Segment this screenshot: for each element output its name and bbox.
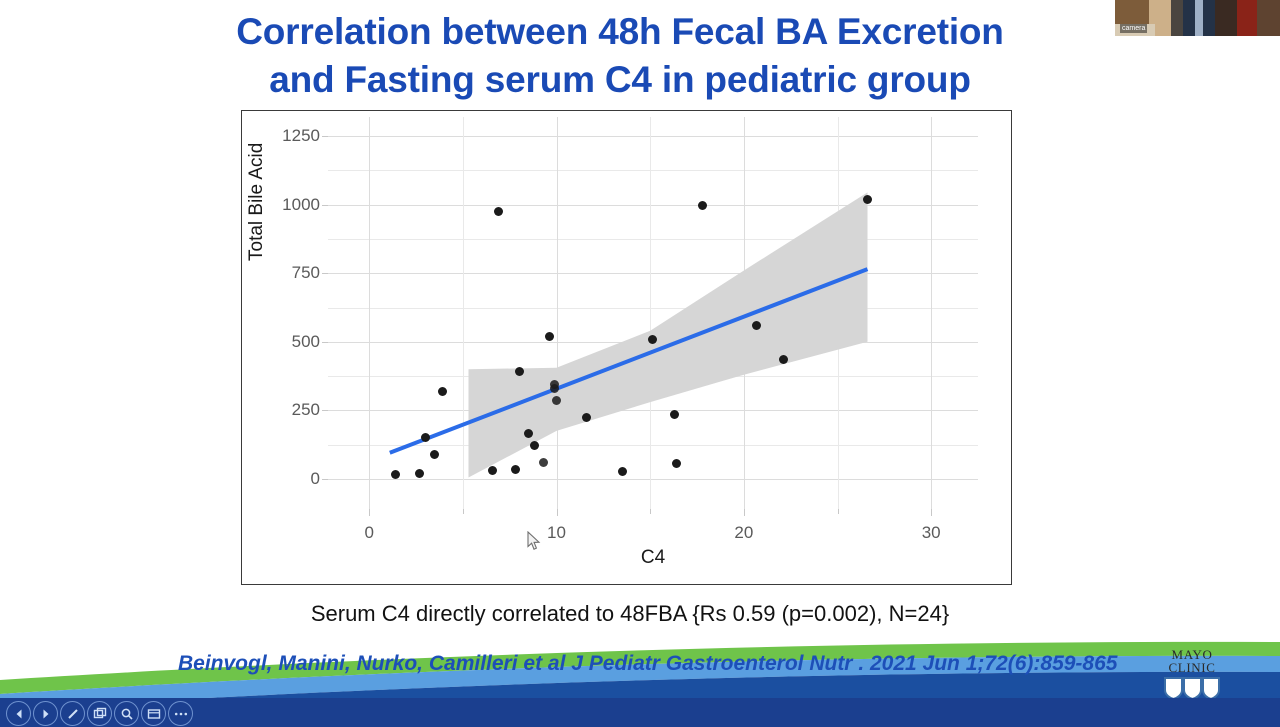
y-axis-tick-label: 0: [311, 469, 320, 489]
x-axis-tick-label: 10: [547, 523, 566, 543]
x-axis-tick-mark: [931, 509, 932, 516]
scatter-point: [545, 332, 554, 341]
scatter-point: [550, 380, 559, 389]
scatter-point: [582, 413, 591, 422]
scatter-point: [670, 410, 679, 419]
pen-tool-button[interactable]: [60, 701, 85, 726]
x-axis-tick-label: 20: [734, 523, 753, 543]
x-axis-tick-mark: [838, 509, 839, 514]
x-axis-ticks: 0102030: [328, 509, 978, 549]
presentation-slide: Correlation between 48h Fecal BA Excreti…: [0, 0, 1280, 727]
presentation-toolbar: [0, 698, 1280, 727]
x-axis-tick-label: 0: [364, 523, 373, 543]
y-axis-title: Total Bile Acid: [246, 143, 268, 261]
scatter-point: [511, 465, 520, 474]
scatter-point: [515, 367, 524, 376]
slide-title-line-1: Correlation between 48h Fecal BA Excreti…: [150, 8, 1090, 56]
webcam-name-label: camera: [1120, 24, 1147, 33]
more-options-button[interactable]: [168, 701, 193, 726]
scatter-point: [438, 387, 447, 396]
webcam-video-inset[interactable]: camera: [1115, 0, 1280, 36]
scatter-point: [494, 207, 503, 216]
citation-text: Beinvogl, Manini, Nurko, Camilleri et al…: [178, 652, 1118, 676]
scatter-point: [698, 201, 707, 210]
scatter-point: [779, 355, 788, 364]
x-axis-tick-mark: [463, 509, 464, 514]
x-axis-tick-label: 30: [922, 523, 941, 543]
x-axis-tick-mark: [369, 509, 370, 516]
y-axis-tick-label: 1250: [282, 126, 320, 146]
regression-line: [328, 117, 978, 509]
y-axis-tick-label: 750: [292, 263, 320, 283]
notes-button[interactable]: [141, 701, 166, 726]
slide-title-line-2: and Fasting serum C4 in pediatric group: [150, 56, 1090, 104]
x-axis-tick-mark: [557, 509, 558, 516]
plot-area: [328, 117, 978, 509]
previous-slide-button[interactable]: [6, 701, 31, 726]
scatter-point: [863, 195, 872, 204]
scatter-point: [648, 335, 657, 344]
zoom-tool-button[interactable]: [114, 701, 139, 726]
x-axis-title: C4: [328, 547, 978, 569]
slide-title: Correlation between 48h Fecal BA Excreti…: [150, 8, 1090, 104]
mayo-clinic-logo: MAYO CLINIC: [1155, 648, 1229, 700]
scatter-point: [524, 429, 533, 438]
next-slide-button[interactable]: [33, 701, 58, 726]
x-axis-tick-mark: [744, 509, 745, 516]
x-axis-tick-mark: [650, 509, 651, 514]
y-axis-tick-label: 250: [292, 400, 320, 420]
y-axis-tick-label: 500: [292, 332, 320, 352]
scatter-point: [539, 458, 548, 467]
screen-view-button[interactable]: [87, 701, 112, 726]
mayo-logo-line-2: CLINIC: [1155, 661, 1229, 674]
scatter-chart: 025050075010001250 Total Bile Acid 01020…: [241, 110, 1012, 585]
mouse-cursor: [527, 531, 541, 551]
scatter-point: [530, 441, 539, 450]
y-axis-tick-label: 1000: [282, 195, 320, 215]
scatter-point: [430, 450, 439, 459]
